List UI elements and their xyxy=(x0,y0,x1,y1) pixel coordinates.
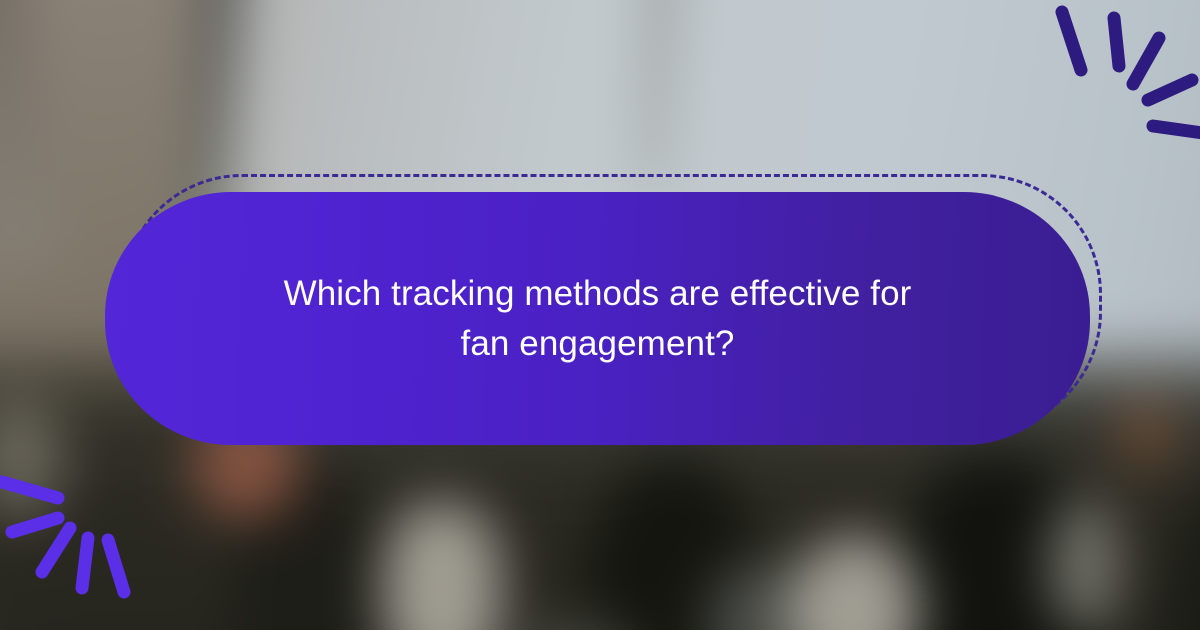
question-card[interactable]: Which tracking methods are effective for… xyxy=(105,192,1090,445)
sparkle-burst-icon xyxy=(1035,0,1200,155)
social-share-card: Which tracking methods are effective for… xyxy=(0,0,1200,630)
background-figure xyxy=(1049,501,1119,630)
question-title: Which tracking methods are effective for… xyxy=(284,269,912,368)
background-figure xyxy=(1117,393,1177,473)
background-figure xyxy=(382,503,502,630)
sparkle-burst-icon xyxy=(0,470,160,630)
